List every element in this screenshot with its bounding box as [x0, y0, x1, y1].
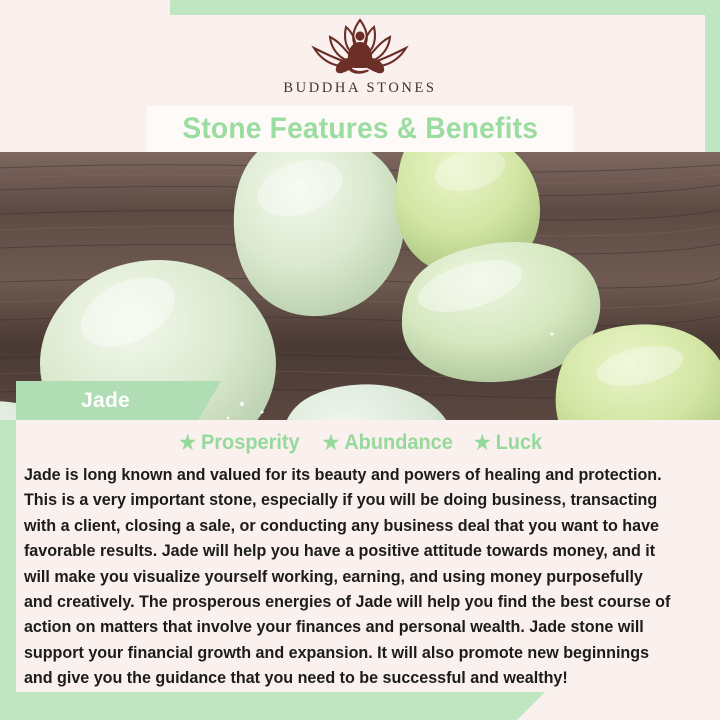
lotus-meditation-icon [304, 14, 416, 78]
decorative-band-bottom [0, 692, 560, 720]
star-icon: ★ [179, 433, 196, 453]
benefits-list: ★ Prosperity ★ Abundance ★ Luck [22, 428, 698, 458]
benefit-item-abundance: ★ Abundance [322, 431, 452, 455]
content-area: ★ Prosperity ★ Abundance ★ Luck Jade is … [16, 420, 704, 692]
stone-info-card: BUDDHA STONES Stone Features & Benefits [0, 0, 720, 720]
star-icon: ★ [474, 433, 491, 453]
benefit-item-luck: ★ Luck [474, 431, 542, 455]
page-title: Stone Features & Benefits [182, 112, 538, 146]
title-banner: Stone Features & Benefits [147, 106, 573, 152]
stone-photo [0, 152, 720, 420]
benefit-label: Luck [496, 431, 543, 455]
benefit-label: Abundance [344, 431, 453, 455]
benefit-label: Prosperity [201, 431, 300, 455]
jade-stones-image [0, 152, 720, 420]
benefit-item-prosperity: ★ Prosperity [179, 431, 299, 455]
brand-name: BUDDHA STONES [283, 80, 436, 97]
decorative-band-left-lower [0, 420, 16, 694]
stone-name-banner: Jade [16, 381, 221, 420]
decorative-band-top [170, 0, 720, 15]
star-icon: ★ [322, 433, 339, 453]
brand-logo: BUDDHA STONES [0, 14, 720, 106]
stone-description: Jade is long known and valued for its be… [22, 462, 678, 691]
stone-name: Jade [81, 389, 130, 413]
